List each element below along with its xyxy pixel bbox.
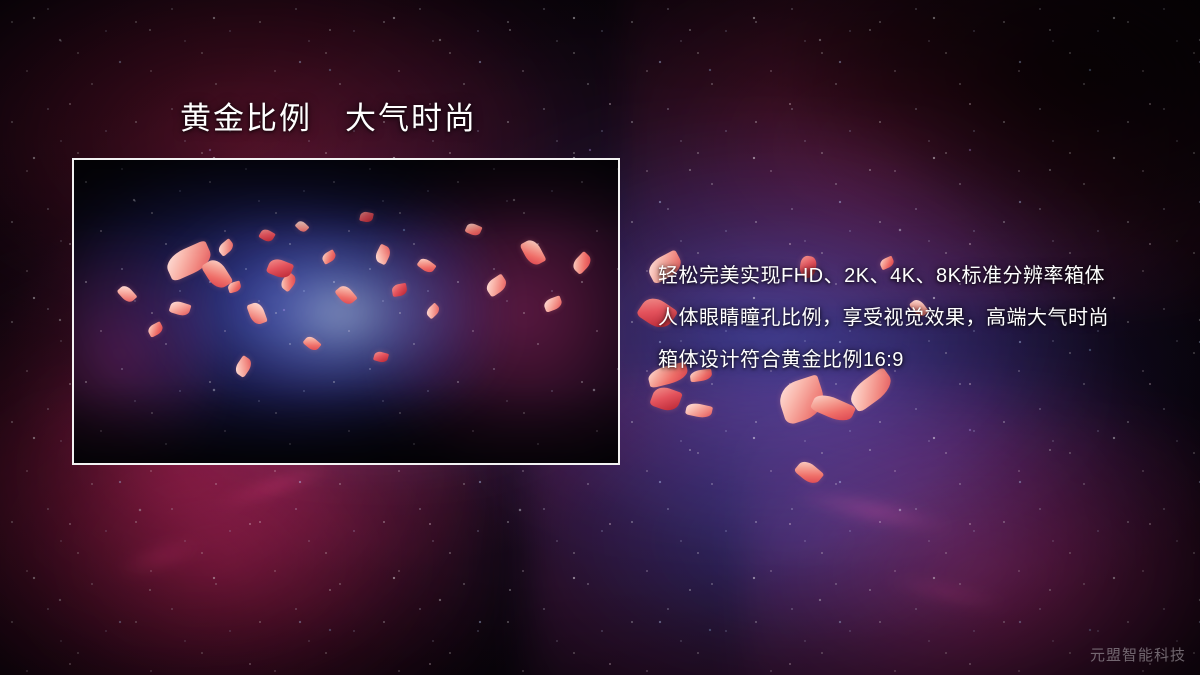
body-copy: 轻松完美实现FHD、2K、4K、8K标准分辨率箱体 人体眼睛瞳孔比例，享受视觉效… — [658, 255, 1178, 381]
frame-shade-bottom — [74, 384, 618, 463]
photo-frame-16x9 — [72, 158, 620, 465]
body-line-1: 轻松完美实现FHD、2K、4K、8K标准分辨率箱体 — [658, 255, 1178, 297]
body-line-2: 人体眼睛瞳孔比例，享受视觉效果，高端大气时尚 — [658, 297, 1178, 339]
page-title: 黄金比例 大气时尚 — [180, 100, 477, 137]
photo-frame-content — [74, 160, 618, 463]
frame-shade-top — [74, 160, 618, 239]
slide-canvas: 黄金比例 大气时尚 — [0, 0, 1200, 675]
watermark: 元盟智能科技 — [1090, 644, 1186, 665]
body-line-3: 箱体设计符合黄金比例16:9 — [658, 339, 1178, 381]
